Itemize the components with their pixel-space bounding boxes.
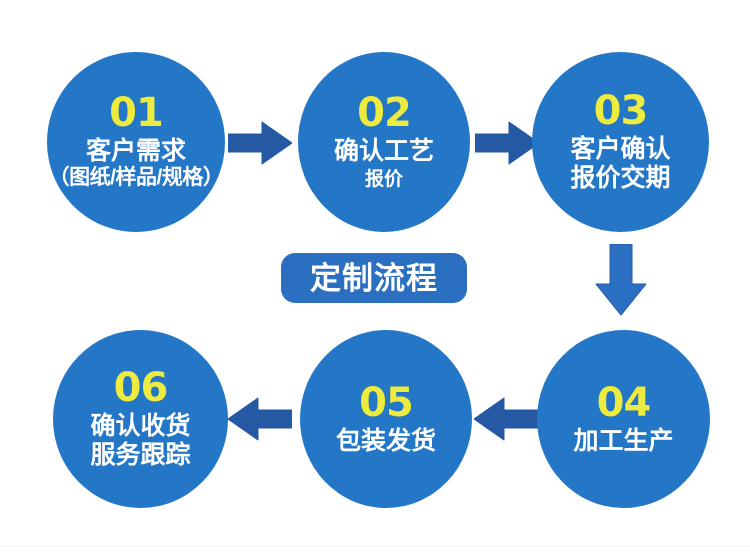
step-number-01: 01 [109, 93, 163, 133]
step-number-04: 04 [597, 383, 651, 423]
step-label-02-line2: 报价 [365, 169, 403, 191]
arrow-down-icon-step03-step04 [594, 244, 648, 316]
step-label-02-line1: 确认工艺 [334, 137, 434, 166]
diagram-title-text: 定制流程 [310, 263, 438, 294]
step-number-06: 06 [114, 368, 168, 408]
process-step-01: 01 客户需求 （图纸/样品/规格） [47, 52, 225, 232]
step-label-03-line1: 客户确认 [570, 135, 670, 164]
step-label-06-line1: 确认收货 [90, 412, 190, 441]
arrow-right-icon-step01-step02 [228, 118, 292, 168]
step-number-02: 02 [357, 93, 411, 133]
diagram-title-badge: 定制流程 [281, 253, 467, 303]
step-label-06-line2: 服务跟踪 [90, 441, 190, 470]
step-label-03-line2: 报价交期 [570, 164, 670, 193]
step-label-01-line1: 客户需求 [86, 137, 186, 166]
arrow-right-icon-step02-step03 [475, 118, 539, 168]
step-label-01-line2: （图纸/样品/规格） [49, 166, 224, 190]
step-label-05-line1: 包装发货 [336, 427, 436, 456]
process-step-05: 05 包装发货 [300, 330, 472, 508]
process-step-06: 06 确认收货 服务跟踪 [53, 330, 228, 508]
arrow-left-icon-step05-step06 [228, 394, 292, 444]
bottom-divider [0, 546, 750, 547]
step-number-05: 05 [359, 383, 413, 423]
process-step-04: 04 加工生产 [537, 330, 710, 508]
custom-process-flow-diagram: 01 客户需求 （图纸/样品/规格） 02 确认工艺 报价 03 客户确认 报价… [0, 0, 750, 553]
process-step-02: 02 确认工艺 报价 [298, 52, 470, 232]
process-step-03: 03 客户确认 报价交期 [532, 52, 709, 232]
arrow-left-icon-step04-step05 [474, 394, 538, 444]
step-number-03: 03 [594, 91, 648, 131]
step-label-04-line1: 加工生产 [573, 427, 673, 456]
